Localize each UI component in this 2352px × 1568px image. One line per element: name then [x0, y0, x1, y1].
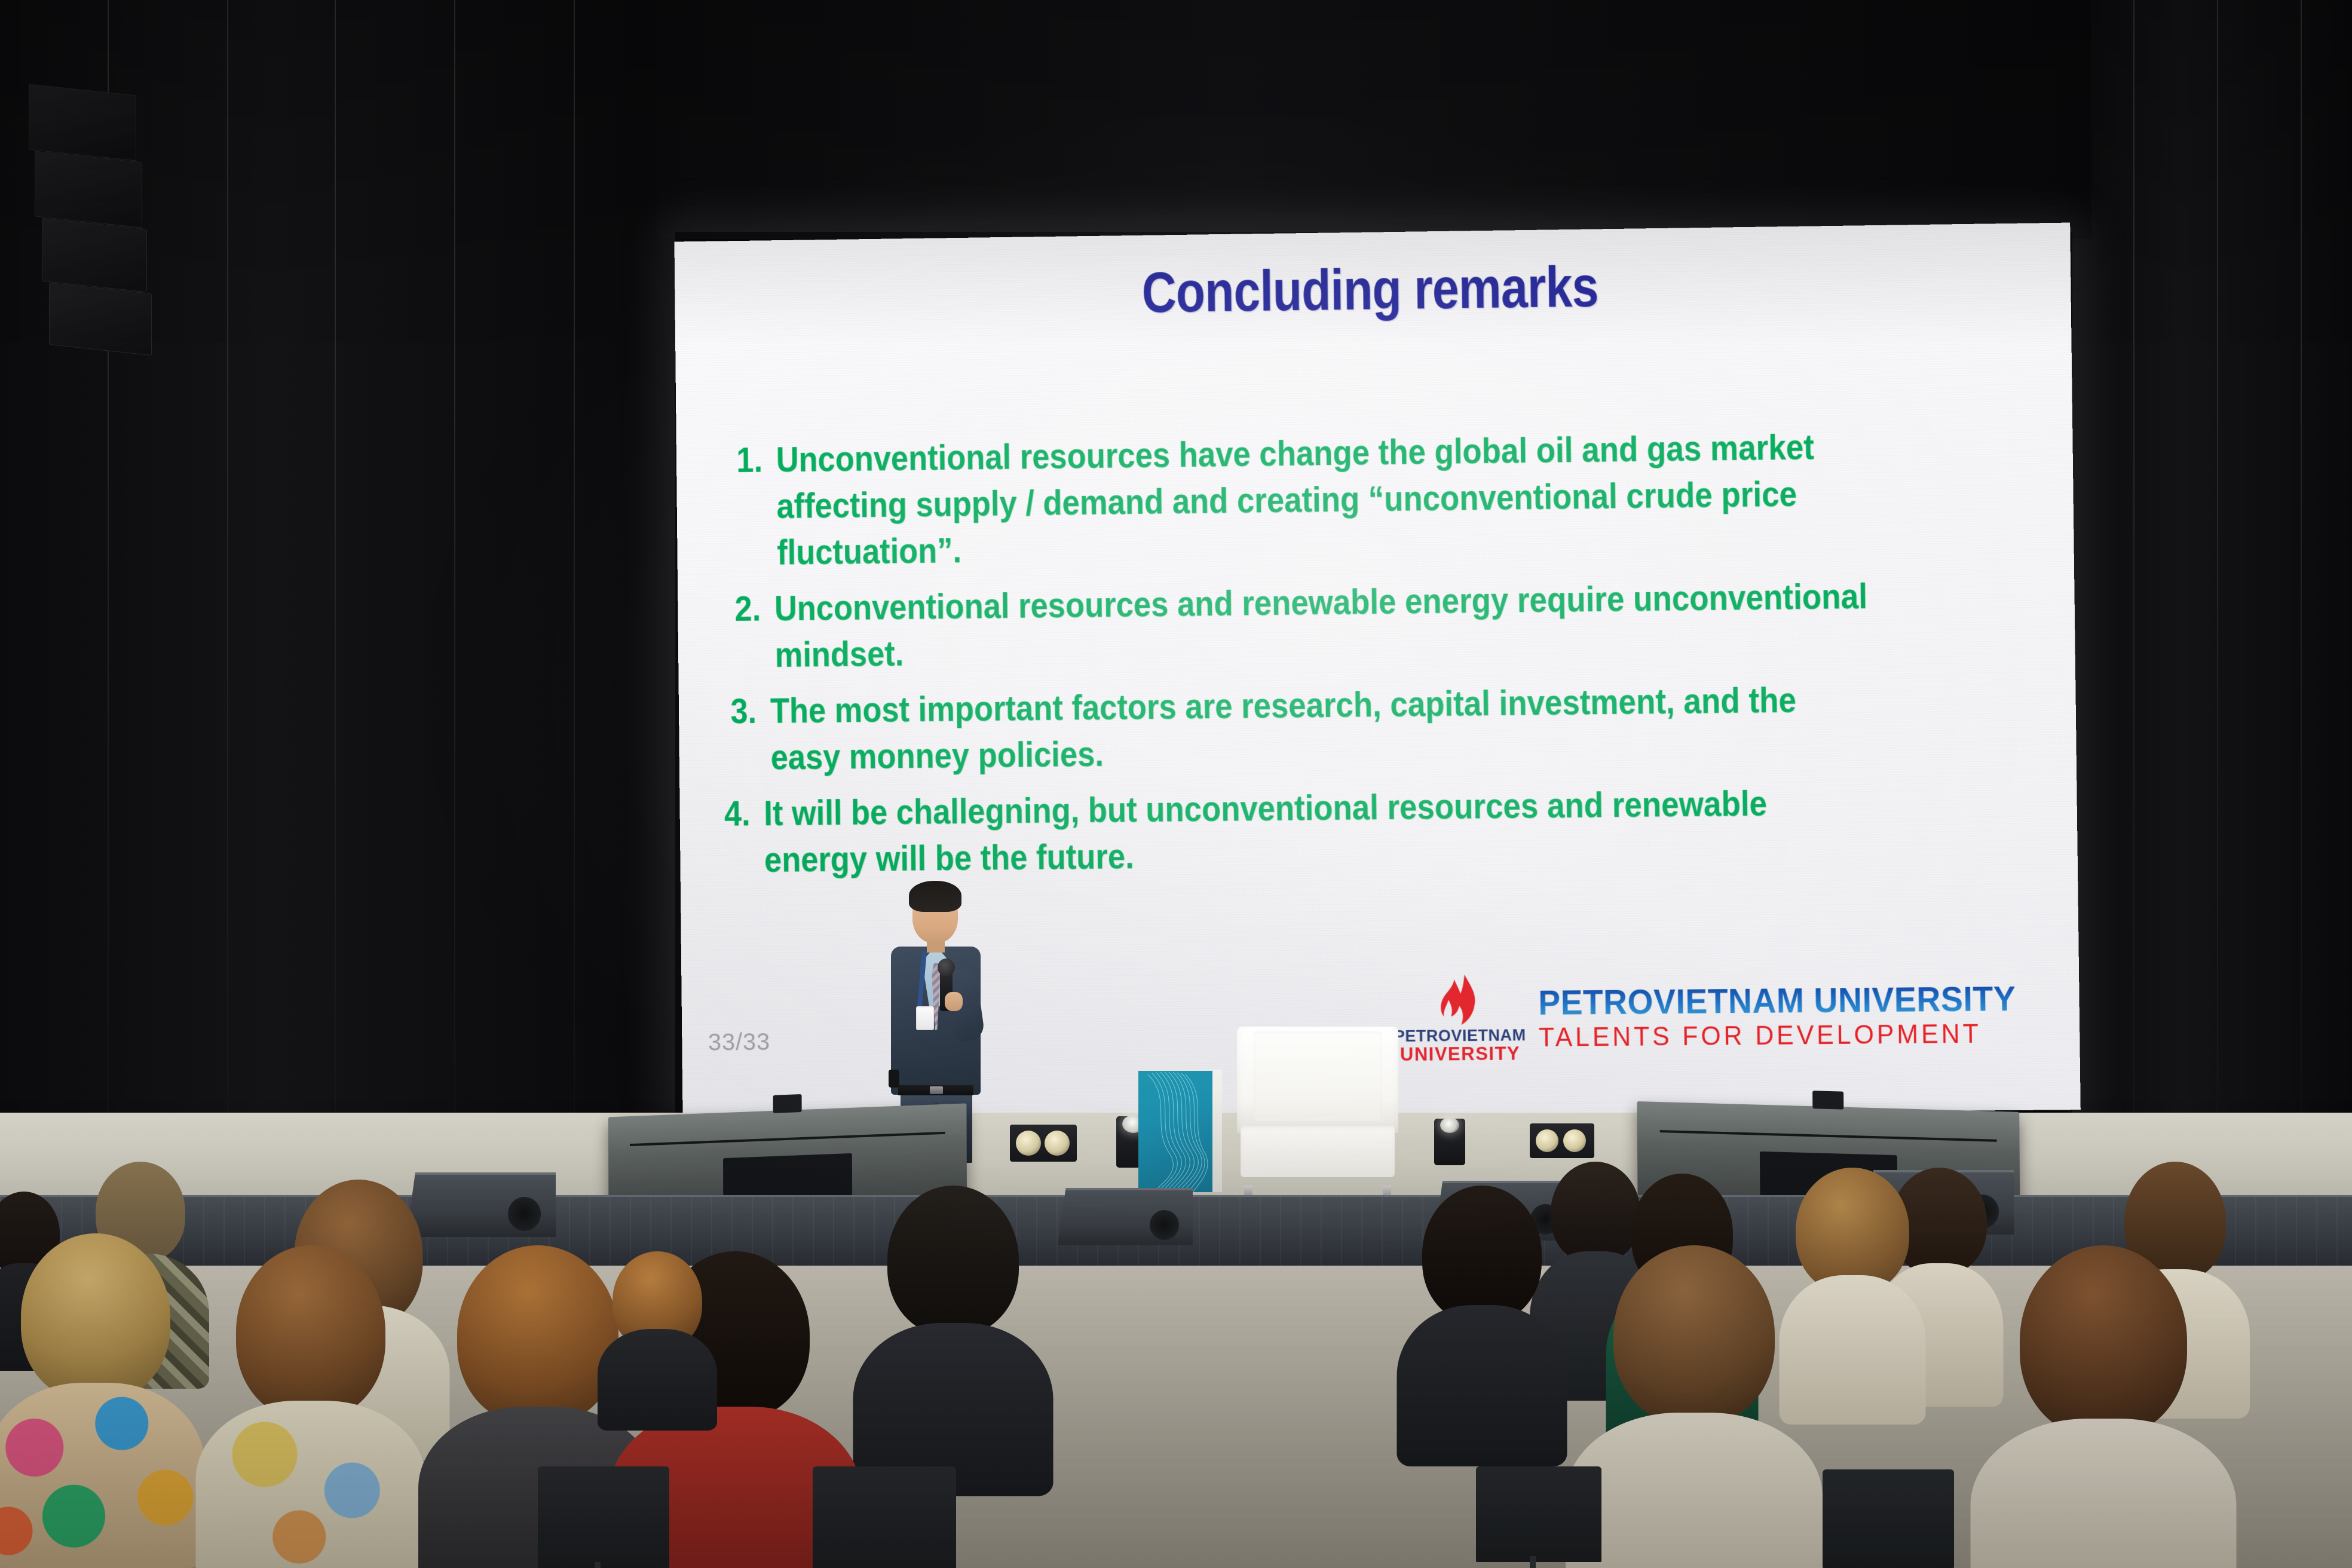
- bullet-number: 2.: [716, 585, 774, 632]
- head: [2020, 1245, 2187, 1437]
- seat-back: [1823, 1469, 1954, 1568]
- head: [1422, 1186, 1542, 1323]
- logo-wordmark-group: PETROVIETNAM UNIVERSITY TALENTS FOR DEVE…: [1538, 979, 2041, 1053]
- stage-curtain-right: [2068, 0, 2352, 1213]
- line-array-speaker: [35, 151, 142, 228]
- line-array-speaker: [49, 283, 152, 356]
- monitor-neck: [773, 1094, 802, 1113]
- seat-back: [1476, 1466, 1601, 1562]
- microphone-head: [938, 958, 955, 976]
- seat-back: [538, 1466, 669, 1568]
- torso: [0, 1383, 205, 1568]
- bullet-text: Unconventional resources and renewable e…: [774, 572, 1876, 678]
- slide-bullet-list: 1. Unconventional resources have change …: [699, 423, 1878, 893]
- bullet-number: 4.: [705, 790, 764, 837]
- presenter-badge: [916, 1006, 934, 1030]
- list-item: 2. Unconventional resources and renewabl…: [700, 572, 1875, 679]
- chair-cushion: [1254, 1031, 1382, 1121]
- stage-backdrop-upper: [657, 0, 2091, 239]
- seat-back: [813, 1466, 956, 1568]
- bullet-number: 1.: [718, 437, 776, 484]
- presenter-hair: [909, 881, 961, 912]
- bullet-text: The most important factors are research,…: [770, 676, 1876, 780]
- head: [21, 1233, 170, 1401]
- logo-mark-line2: UNIVERSITY: [1400, 1043, 1521, 1065]
- presenter-belt: [898, 1085, 973, 1095]
- torso: [1397, 1305, 1567, 1466]
- bullet-number: 3.: [712, 688, 770, 735]
- head: [236, 1245, 385, 1419]
- audience-member: [1566, 1245, 1823, 1568]
- flame-icon: [1436, 973, 1483, 1027]
- audience: [0, 1114, 2352, 1568]
- head: [1613, 1245, 1775, 1425]
- presenter-hand: [945, 992, 963, 1011]
- logo-mark-line1: PETROVIETNAM: [1394, 1027, 1526, 1045]
- logo-wordmark: PETROVIETNAM UNIVERSITY: [1538, 979, 2016, 1023]
- logo-mark: PETROVIETNAM UNIVERSITY: [1396, 973, 1523, 1065]
- seat-leg: [595, 1562, 601, 1568]
- audience-member: [855, 1186, 1052, 1496]
- list-item: 4. It will be challegning, but unconvent…: [702, 779, 1878, 884]
- audience-member: [0, 1233, 203, 1568]
- bullet-text: It will be challegning, but unconvention…: [764, 779, 1878, 883]
- list-item: 1. Unconventional resources have change …: [699, 423, 1874, 577]
- audience-member: [197, 1245, 424, 1568]
- line-array-speaker: [42, 218, 147, 292]
- monitor-neck: [1813, 1091, 1843, 1109]
- torso: [1566, 1413, 1823, 1568]
- petrovietnam-university-logo: PETROVIETNAM UNIVERSITY PETROVIETNAM UNI…: [1396, 968, 2041, 1065]
- torso: [196, 1401, 426, 1568]
- head: [457, 1245, 618, 1425]
- audience-member: [598, 1251, 717, 1431]
- presentation-clicker: [889, 1070, 899, 1088]
- torso: [1971, 1419, 2237, 1568]
- logo-tagline: TALENTS FOR DEVELOPMENT: [1538, 1019, 2026, 1053]
- list-item: 3. The most important factors are resear…: [701, 676, 1876, 782]
- audience-member: [1972, 1245, 2235, 1568]
- slide-page-number: 33/33: [708, 1029, 771, 1056]
- audience-member: [1398, 1186, 1566, 1466]
- slide-title: Concluding remarks: [785, 249, 1958, 330]
- torso: [598, 1329, 717, 1431]
- line-array-speaker: [29, 84, 136, 161]
- head: [887, 1186, 1019, 1335]
- seat-leg: [1530, 1556, 1536, 1568]
- bullet-text: Unconventional resources have change the…: [776, 423, 1874, 576]
- auditorium-scene: Concluding remarks 1. Unconventional res…: [0, 0, 2352, 1568]
